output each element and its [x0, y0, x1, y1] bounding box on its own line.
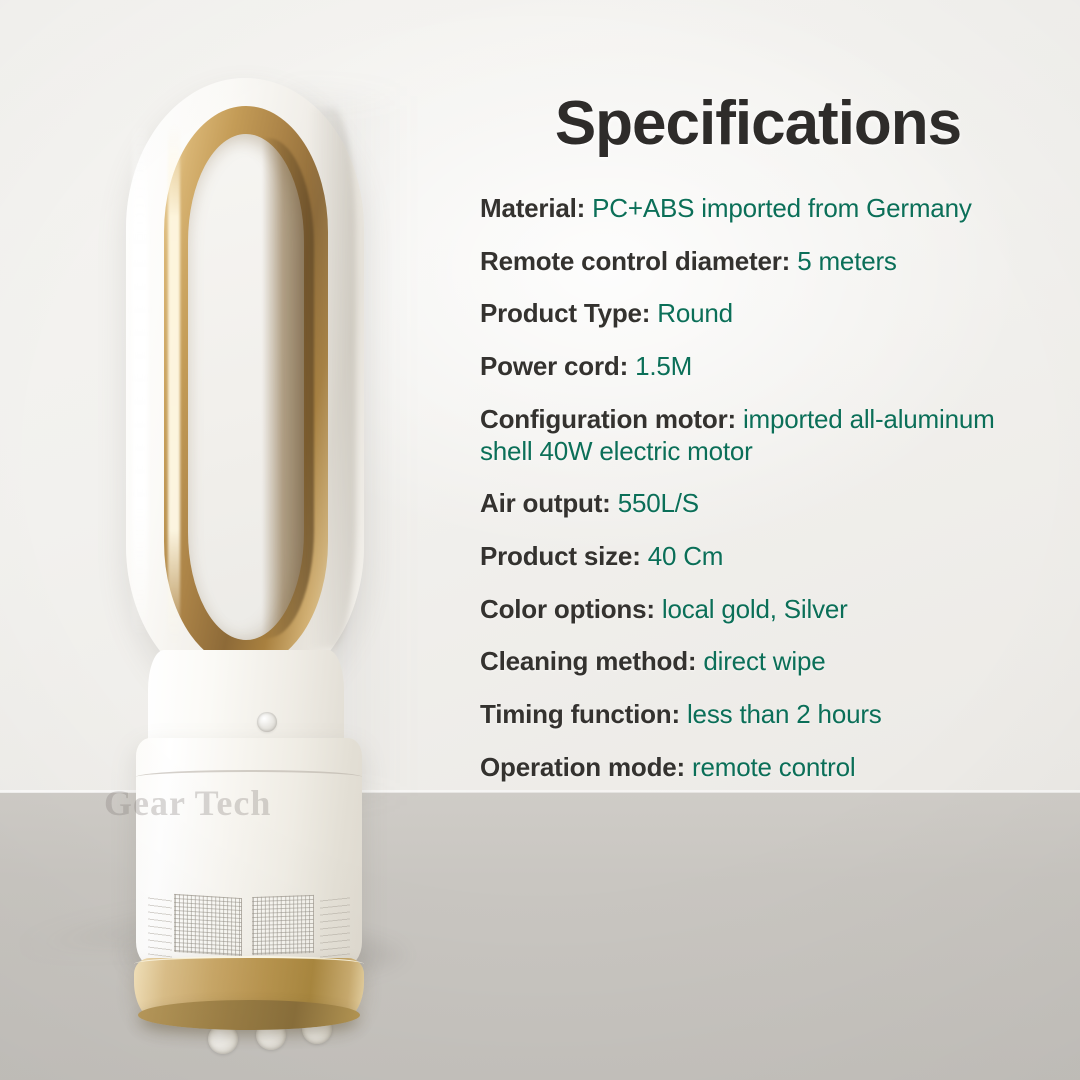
- spec-label: Timing function:: [480, 699, 680, 729]
- shell-highlight: [132, 118, 148, 638]
- product-image-bladeless-fan: [112, 78, 402, 990]
- spec-value: direct wipe: [703, 646, 825, 676]
- spec-label: Configuration motor:: [480, 404, 736, 434]
- spec-list: Material: PC+ABS imported from GermanyRe…: [480, 193, 1036, 784]
- fan-loop-inner-back: [262, 138, 314, 638]
- vent-mesh-panel: [174, 894, 242, 956]
- spec-label: Power cord:: [480, 351, 628, 381]
- spec-label: Product size:: [480, 541, 641, 571]
- spec-label: Cleaning method:: [480, 646, 696, 676]
- spec-label: Material:: [480, 193, 585, 223]
- spec-row: Power cord: 1.5M: [480, 351, 1036, 383]
- base-gold-ring-highlight: [134, 956, 364, 972]
- spec-row: Configuration motor: imported all-alumin…: [480, 404, 1036, 467]
- spec-label: Operation mode:: [480, 752, 685, 782]
- spec-value: remote control: [692, 752, 855, 782]
- spec-value: less than 2 hours: [687, 699, 882, 729]
- spec-value: local gold, Silver: [662, 594, 848, 624]
- spec-row: Color options: local gold, Silver: [480, 594, 1036, 626]
- fan-air-intake-vents: [148, 890, 352, 962]
- spec-row: Remote control diameter: 5 meters: [480, 246, 1036, 278]
- spec-row: Product size: 40 Cm: [480, 541, 1036, 573]
- vent-slats-left: [148, 893, 172, 958]
- spec-value: Round: [657, 298, 733, 328]
- spec-row: Material: PC+ABS imported from Germany: [480, 193, 1036, 225]
- spec-value: 40 Cm: [648, 541, 724, 571]
- spec-value: 5 meters: [797, 246, 897, 276]
- spec-label: Product Type:: [480, 298, 650, 328]
- specifications-panel: Specifications Material: PC+ABS imported…: [480, 88, 1036, 784]
- spec-row: Cleaning method: direct wipe: [480, 646, 1036, 678]
- spec-row: Product Type: Round: [480, 298, 1036, 330]
- shell-shading: [308, 108, 356, 648]
- product-spec-card: Gear Tech Specifications Material: PC+AB…: [0, 0, 1080, 1080]
- spec-row: Air output: 550L/S: [480, 488, 1036, 520]
- ir-sensor-icon: [257, 712, 277, 732]
- page-title: Specifications: [480, 88, 1036, 159]
- base-bottom-rim: [138, 1000, 360, 1030]
- spec-row: Operation mode: remote control: [480, 752, 1036, 784]
- spec-value: PC+ABS imported from Germany: [592, 193, 971, 223]
- vent-mesh-panel: [252, 895, 314, 955]
- vent-slats-right: [320, 892, 350, 957]
- brand-watermark: Gear Tech: [104, 782, 271, 824]
- spec-label: Air output:: [480, 488, 611, 518]
- spec-label: Color options:: [480, 594, 655, 624]
- spec-row: Timing function: less than 2 hours: [480, 699, 1036, 731]
- gold-highlight: [168, 124, 180, 644]
- spec-label: Remote control diameter:: [480, 246, 790, 276]
- spec-value: 1.5M: [635, 351, 692, 381]
- spec-value: 550L/S: [618, 488, 699, 518]
